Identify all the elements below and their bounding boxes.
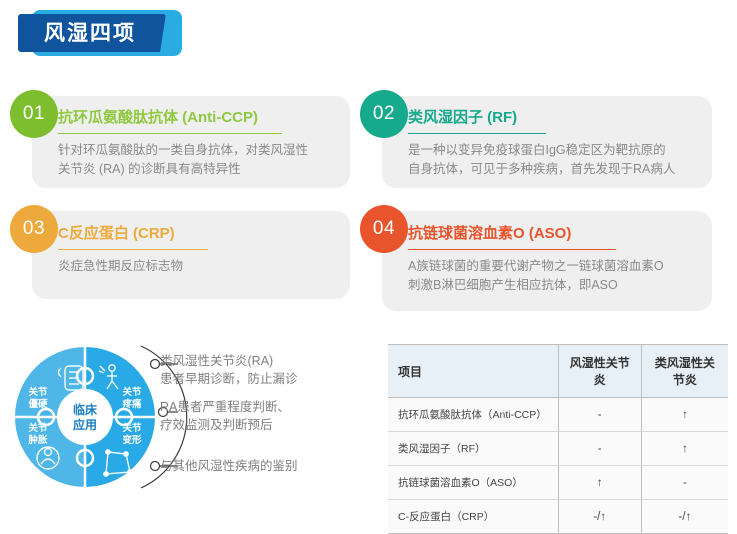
card-badge-01: 01 bbox=[10, 90, 58, 138]
card-underline-01 bbox=[58, 133, 282, 134]
card-content-03: C反应蛋白 (CRP) 炎症急性期反应标志物 bbox=[58, 224, 348, 276]
table-cell-rra: - bbox=[641, 466, 728, 500]
diagram-center-label-line1: 临床 bbox=[73, 402, 98, 417]
table-header-ra: 风湿性关节炎 bbox=[558, 345, 641, 398]
quadrant-label-top-right-1: 关节 bbox=[122, 386, 142, 398]
table-header-item: 项目 bbox=[388, 345, 558, 398]
card-badge-03: 03 bbox=[10, 205, 58, 253]
page-title: 风湿四项 bbox=[44, 23, 140, 44]
table-cell-item: 抗链球菌溶血素O（ASO） bbox=[388, 466, 558, 500]
card-description-02: 是一种以变异免疫球蛋白IgG稳定区为靶抗原的 自身抗体，可见于多种疾病，首先发现… bbox=[408, 141, 708, 179]
quadrant-label-bottom-right-1: 关节 bbox=[122, 422, 142, 434]
quadrant-label-top-left-1: 关节 bbox=[28, 386, 48, 398]
table-row: 抗环瓜氨酸肽抗体（Anti-CCP） - ↑ bbox=[388, 398, 728, 432]
card-title-04: 抗链球菌溶血素O (ASO) bbox=[408, 224, 571, 249]
table-row: 抗链球菌溶血素O（ASO） ↑ - bbox=[388, 466, 728, 500]
connector-node-3 bbox=[151, 462, 160, 471]
card-description-04: A族链球菌的重要代谢产物之一链球菌溶血素O 刺激B淋巴细胞产生相应抗体，即ASO bbox=[408, 257, 708, 295]
table-header-rra: 类风湿性关节炎 bbox=[641, 345, 728, 398]
quadrant-label-bottom-right-2: 变形 bbox=[122, 434, 142, 446]
quadrant-label-top-left-2: 僵硬 bbox=[28, 398, 48, 410]
card-title-01: 抗环瓜氨酸肽抗体 (Anti-CCP) bbox=[58, 108, 258, 133]
table-cell-ra: ↑ bbox=[558, 466, 641, 500]
table-cell-item: 类风湿因子（RF） bbox=[388, 432, 558, 466]
table-cell-item: 抗环瓜氨酸肽抗体（Anti-CCP） bbox=[388, 398, 558, 432]
card-content-04: 抗链球菌溶血素O (ASO) A族链球菌的重要代谢产物之一链球菌溶血素O 刺激B… bbox=[408, 224, 708, 295]
table-cell-ra: - bbox=[558, 398, 641, 432]
connector-text-1: 类风湿性关节炎(RA) 患者早期诊断，防止漏诊 bbox=[160, 352, 298, 388]
card-content-01: 抗环瓜氨酸肽抗体 (Anti-CCP) 针对环瓜氨酸肽的一类自身抗体，对类风湿性… bbox=[58, 108, 348, 179]
quadrant-label-top-right-2: 疼痛 bbox=[122, 398, 142, 410]
card-underline-02 bbox=[408, 133, 546, 134]
comparison-table: 项目 风湿性关节炎 类风湿性关节炎 抗环瓜氨酸肽抗体（Anti-CCP） - ↑… bbox=[388, 344, 728, 534]
table-row: 类风湿因子（RF） - ↑ bbox=[388, 432, 728, 466]
diagram-center-label-line2: 应用 bbox=[73, 417, 97, 432]
table-cell-item: C-反应蛋白（CRP） bbox=[388, 500, 558, 534]
card-content-02: 类风湿因子 (RF) 是一种以变异免疫球蛋白IgG稳定区为靶抗原的 自身抗体，可… bbox=[408, 108, 708, 179]
card-title-02: 类风湿因子 (RF) bbox=[408, 108, 517, 133]
table-cell-ra: - bbox=[558, 432, 641, 466]
card-title-03: C反应蛋白 (CRP) bbox=[58, 224, 175, 249]
table-cell-rra: -/↑ bbox=[641, 500, 728, 534]
connector-node-1 bbox=[151, 360, 160, 369]
quadrant-label-bottom-left-2: 肿胀 bbox=[28, 434, 48, 446]
card-badge-02: 02 bbox=[360, 90, 408, 138]
table-cell-ra: -/↑ bbox=[558, 500, 641, 534]
comparison-table-wrap: 项目 风湿性关节炎 类风湿性关节炎 抗环瓜氨酸肽抗体（Anti-CCP） - ↑… bbox=[388, 344, 728, 534]
card-underline-04 bbox=[408, 249, 616, 250]
table-cell-rra: ↑ bbox=[641, 432, 728, 466]
card-description-03: 炎症急性期反应标志物 bbox=[58, 257, 348, 276]
card-badge-04: 04 bbox=[360, 205, 408, 253]
table-header-row: 项目 风湿性关节炎 类风湿性关节炎 bbox=[388, 345, 728, 398]
card-description-01: 针对环瓜氨酸肽的一类自身抗体，对类风湿性 关节炎 (RA) 的诊断具有高特异性 bbox=[58, 141, 348, 179]
header-banner: 风湿四项 bbox=[18, 14, 166, 52]
card-underline-03 bbox=[58, 249, 208, 250]
page-header: 风湿四项 bbox=[18, 10, 218, 56]
diagram-center-circle bbox=[57, 389, 113, 445]
table-row: C-反应蛋白（CRP） -/↑ -/↑ bbox=[388, 500, 728, 534]
connector-text-3: 与其他风湿性疾病的鉴别 bbox=[160, 457, 298, 475]
table-cell-rra: ↑ bbox=[641, 398, 728, 432]
quadrant-label-bottom-left-1: 关节 bbox=[28, 422, 48, 434]
connector-text-2: RA患者严重程度判断、 疗效监测及判断预后 bbox=[160, 398, 290, 434]
